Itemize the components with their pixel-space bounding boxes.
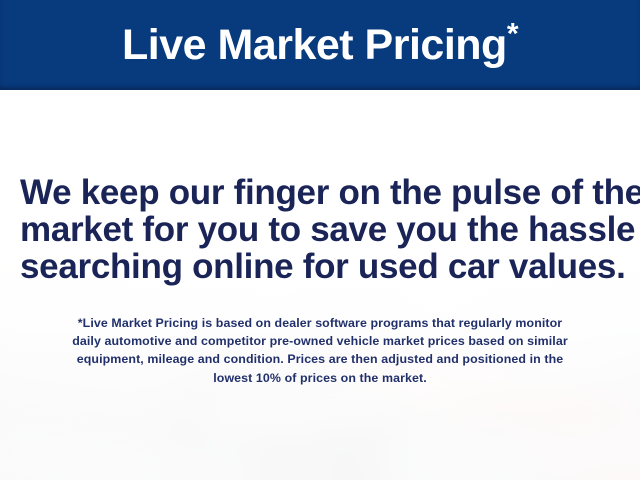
content-area: We keep our finger on the pulse of the m… [0,90,640,480]
banner-title-asterisk: * [507,17,518,50]
headline-line: searching online for used car values. [20,248,620,285]
banner-title-text: Live Market Pricing [122,21,507,69]
disclaimer-line: daily automotive and competitor pre-owne… [22,332,618,350]
headline-line: We keep our finger on the pulse of the [20,174,620,211]
header-banner: Live Market Pricing* [0,0,640,90]
disclaimer-line: *Live Market Pricing is based on dealer … [22,314,618,332]
disclaimer-line: equipment, mileage and condition. Prices… [22,350,618,368]
disclaimer-line: lowest 10% of prices on the market. [22,369,618,387]
live-market-pricing-banner: Live Market Pricing* We keep our finger … [0,0,640,480]
headline-line: market for you to save you the hassle of [20,211,620,248]
disclaimer-text: *Live Market Pricing is based on dealer … [22,314,618,387]
banner-title: Live Market Pricing* [110,24,530,67]
headline: We keep our finger on the pulse of the m… [20,174,620,285]
